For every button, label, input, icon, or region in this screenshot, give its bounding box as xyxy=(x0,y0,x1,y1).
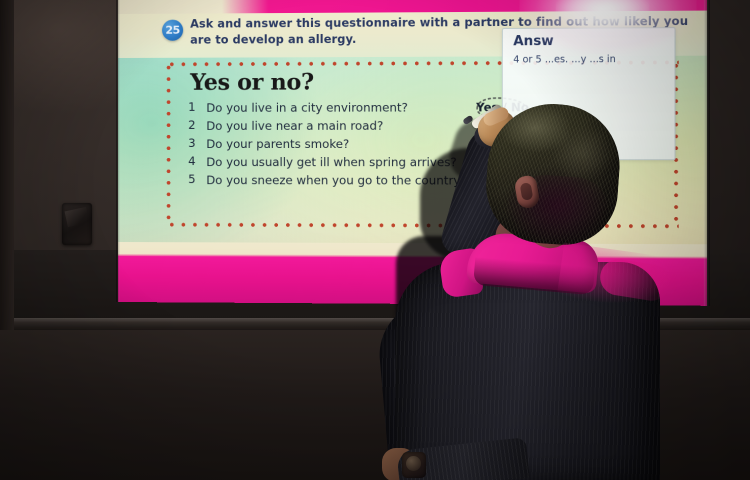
question-row: 3 Do your parents smoke? xyxy=(188,136,493,153)
question-text: Do you usually get ill when spring arriv… xyxy=(206,154,457,171)
dotted-border-left xyxy=(166,62,171,227)
cast-shadow-body xyxy=(396,236,556,316)
question-text: Do you live near a main road? xyxy=(206,118,383,135)
answers-panel-title: Answ xyxy=(513,34,553,49)
card-title: Yes or no? xyxy=(190,69,314,96)
answers-panel: Answ 4 or 5 ...es. ...y ...s in ...rry! … xyxy=(502,27,676,160)
question-number: 2 xyxy=(188,118,206,132)
classroom-photo-scene: 25 Ask and answer this questionnaire wit… xyxy=(0,0,750,480)
lower-wall-area xyxy=(0,330,750,480)
question-number: 1 xyxy=(188,100,206,114)
wall-switch-fixture[interactable] xyxy=(62,203,92,245)
question-text: Do you live in a city environment? xyxy=(206,99,408,116)
question-number: 5 xyxy=(188,172,206,186)
question-number: 4 xyxy=(188,154,206,168)
question-text: Do your parents smoke? xyxy=(206,136,349,153)
projection-left-edge xyxy=(116,0,120,302)
question-row: 1 Do you live in a city environment? xyxy=(188,99,493,117)
answers-panel-body: 4 or 5 ...es. ...y ...s in xyxy=(513,53,667,68)
question-row: 2 Do you live near a main road? xyxy=(188,117,493,134)
projection-right-edge xyxy=(704,0,710,306)
answers-panel-footer: ...rry! ...allergies! xyxy=(513,140,667,153)
activity-number-badge: 25 xyxy=(162,20,183,41)
question-number: 3 xyxy=(188,136,206,150)
